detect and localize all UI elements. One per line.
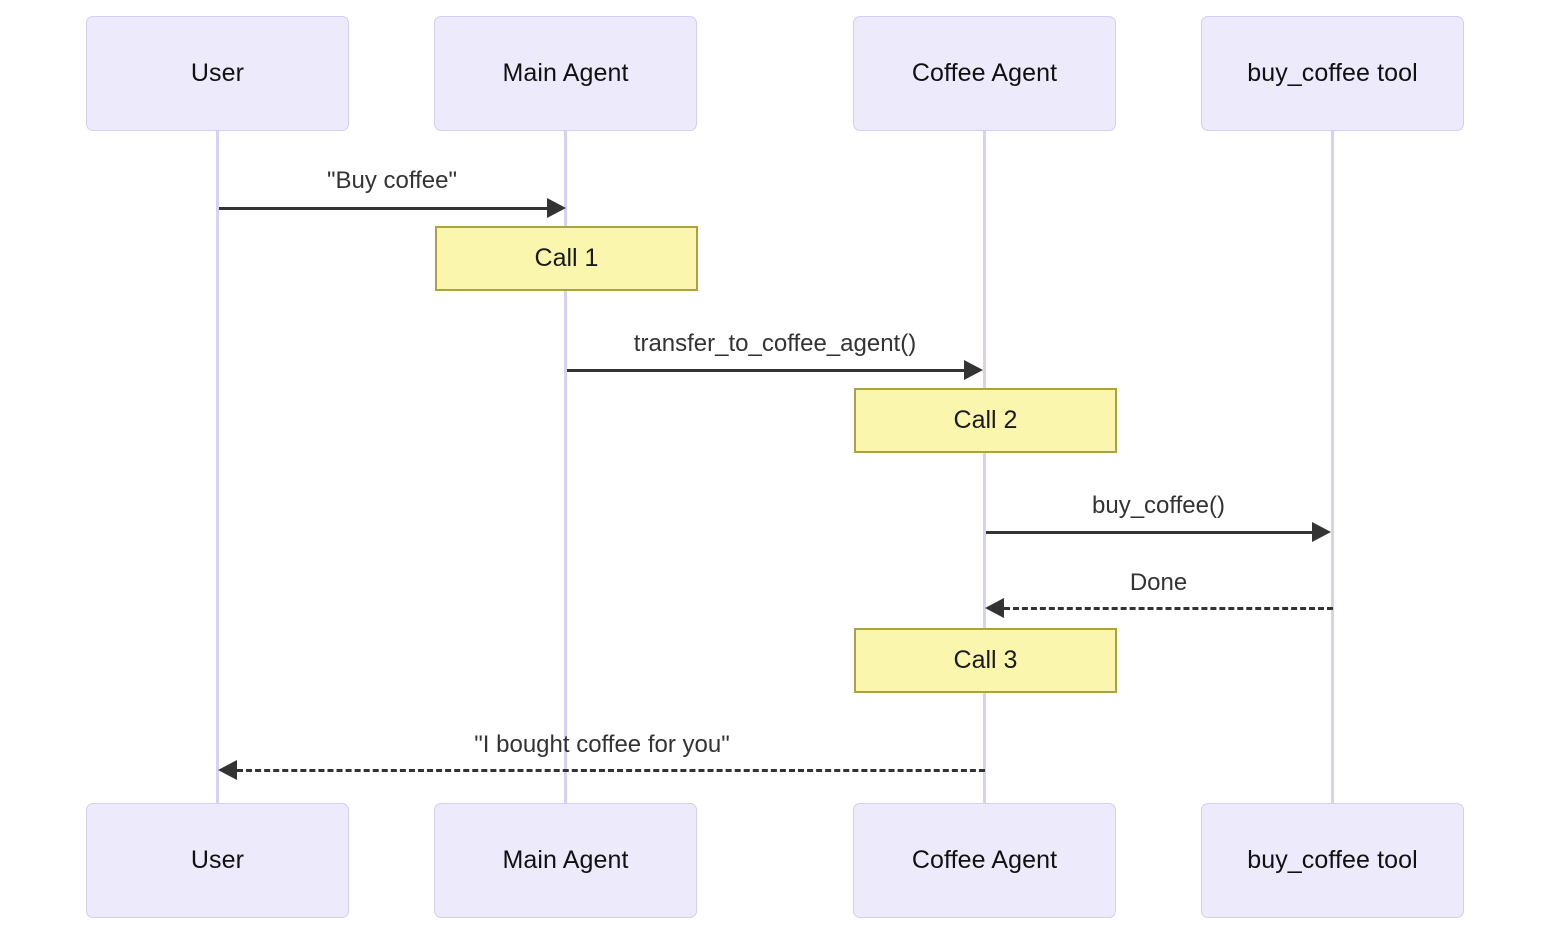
participant-label: buy_coffee tool — [1247, 846, 1418, 875]
participant-main-agent-bottom[interactable]: Main Agent — [434, 803, 697, 918]
participant-user-bottom[interactable]: User — [86, 803, 349, 918]
participant-buy-coffee-tool-bottom[interactable]: buy_coffee tool — [1201, 803, 1464, 918]
note-call-2: Call 2 — [854, 388, 1117, 453]
note-call-3: Call 3 — [854, 628, 1117, 693]
participant-user-top[interactable]: User — [86, 16, 349, 131]
sequence-diagram: User Main Agent Coffee Agent buy_coffee … — [0, 0, 1568, 948]
arrow-head-right-icon — [547, 198, 566, 218]
message-label-done: Done — [986, 569, 1331, 597]
participant-main-agent-top[interactable]: Main Agent — [434, 16, 697, 131]
message-line-i-bought-coffee — [237, 769, 985, 772]
participant-label: Coffee Agent — [912, 59, 1057, 88]
arrow-head-right-icon — [1312, 522, 1331, 542]
participant-label: User — [191, 59, 244, 88]
note-label: Call 2 — [954, 406, 1018, 435]
participant-buy-coffee-tool-top[interactable]: buy_coffee tool — [1201, 16, 1464, 131]
participant-label: buy_coffee tool — [1247, 59, 1418, 88]
lifeline-coffee-agent — [983, 131, 986, 806]
message-line-transfer-to-coffee-agent — [567, 369, 965, 372]
lifeline-buy-coffee-tool — [1331, 131, 1334, 806]
participant-label: Coffee Agent — [912, 846, 1057, 875]
arrow-head-left-icon — [985, 598, 1004, 618]
lifeline-user — [216, 131, 219, 806]
participant-coffee-agent-bottom[interactable]: Coffee Agent — [853, 803, 1116, 918]
message-line-buy-coffee — [219, 207, 549, 210]
message-label-i-bought-coffee: "I bought coffee for you" — [218, 731, 986, 759]
arrow-head-right-icon — [964, 360, 983, 380]
participant-label: Main Agent — [502, 59, 628, 88]
message-line-buy-coffee-call — [986, 531, 1313, 534]
note-label: Call 3 — [954, 646, 1018, 675]
note-call-1: Call 1 — [435, 226, 698, 291]
message-line-done — [1004, 607, 1333, 610]
message-label-buy-coffee: "Buy coffee" — [218, 167, 566, 195]
participant-coffee-agent-top[interactable]: Coffee Agent — [853, 16, 1116, 131]
participant-label: User — [191, 846, 244, 875]
arrow-head-left-icon — [218, 760, 237, 780]
message-label-transfer-to-coffee-agent: transfer_to_coffee_agent() — [566, 330, 984, 358]
note-label: Call 1 — [535, 244, 599, 273]
participant-label: Main Agent — [502, 846, 628, 875]
message-label-buy-coffee-call: buy_coffee() — [986, 492, 1331, 520]
